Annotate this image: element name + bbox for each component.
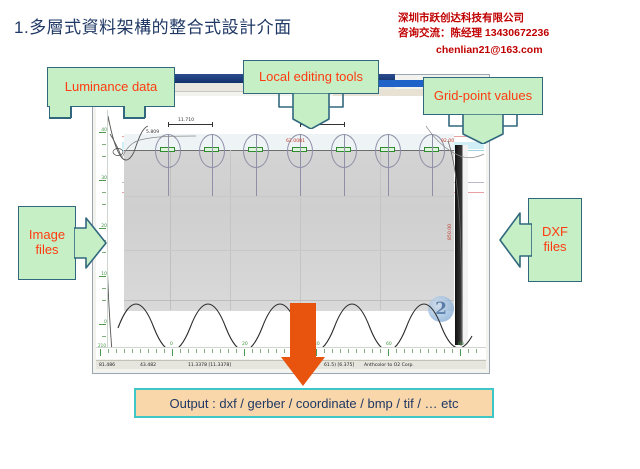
grid-point-axis <box>388 134 389 196</box>
dimension-label-side: 850.00 <box>448 224 453 240</box>
plate-grid-line <box>124 300 454 301</box>
ruler-h-label: 80 <box>458 342 464 347</box>
output-formats-box: Output : dxf / gerber / coordinate / bmp… <box>134 388 494 418</box>
callout-grid-point-values[interactable]: Grid-point values <box>423 77 543 115</box>
page-title: 1.多層式資料架構的整合式設計介面 <box>14 13 292 38</box>
status-coord-value: 11.3378 [11.3378] <box>188 361 231 370</box>
ruler-h-label: 20 <box>242 342 248 347</box>
ruler-v-label: 40 <box>101 128 107 133</box>
callout-image-files-arrow <box>74 214 108 272</box>
callout-image-files[interactable]: Image files <box>18 206 76 280</box>
plate-grid-line <box>124 250 454 251</box>
callout-image-files-line2: files <box>35 243 58 258</box>
callout-local-editing-arrow <box>243 93 379 129</box>
plate-grid-line <box>380 150 381 310</box>
ruler-v-label: 10 <box>101 272 107 277</box>
callout-dxf-files[interactable]: DXF files <box>528 198 582 282</box>
dimension-label-d4: 62.0081 <box>286 139 305 144</box>
status-x-value: 81.486 <box>99 361 115 370</box>
dimension-label-d2: 11.710 <box>178 118 194 123</box>
company-email: chenlian21@163.com <box>436 44 549 57</box>
callout-dxf-files-arrow <box>498 208 532 272</box>
dimension-tick <box>212 122 213 127</box>
ruler-h-label: 0 <box>170 342 173 347</box>
plate-right-strip <box>462 145 468 345</box>
ruler-v-label: 0 <box>104 320 107 325</box>
callout-image-files-line1: Image <box>29 228 65 243</box>
callout-luminance-tail <box>47 106 175 120</box>
plate-right-dark-edge <box>455 145 462 345</box>
watermark-logo: 2 <box>428 296 454 322</box>
ruler-v-label: 30 <box>101 176 107 181</box>
company-contact-block: 深圳市跃创达科技有限公司 咨询交流：陈经理 13430672236 chenli… <box>398 12 549 57</box>
callout-dxf-files-line2: files <box>543 240 566 255</box>
grid-point-axis <box>168 134 169 196</box>
callout-grid-point-label: Grid-point values <box>434 89 532 104</box>
output-formats-label: Output : dxf / gerber / coordinate / bmp… <box>169 396 458 411</box>
arrow-head-icon <box>281 357 325 386</box>
dimension-tick <box>168 122 169 127</box>
plate-grid-line <box>124 196 454 197</box>
callout-grid-point-arrow <box>423 114 543 144</box>
arrow-shaft <box>290 303 316 358</box>
callout-dxf-files-line1: DXF <box>542 225 568 240</box>
dimension-bar <box>168 124 212 125</box>
plate-body <box>124 150 454 311</box>
ruler-h-label: 60 <box>386 342 392 347</box>
dimension-label-d1: 5.809 <box>146 130 159 135</box>
company-contact: 咨询交流：陈经理 13430672236 <box>398 27 549 40</box>
status-copyright: Anthcolor to O2 Corp. <box>364 361 414 370</box>
plate-grid-line <box>230 150 231 310</box>
status-right-value: 61.5) [6.375] <box>324 361 354 370</box>
callout-luminance-label: Luminance data <box>65 80 158 95</box>
callout-local-editing-label: Local editing tools <box>259 70 363 85</box>
callout-luminance-data[interactable]: Luminance data <box>47 67 175 107</box>
company-name: 深圳市跃创达科技有限公司 <box>398 12 549 25</box>
status-y-value: 43.482 <box>140 361 156 370</box>
ruler-h-label: 210 <box>98 343 106 348</box>
grid-point-axis <box>344 134 345 196</box>
grid-point-axis <box>256 134 257 196</box>
grid-point-axis <box>212 134 213 196</box>
slide-root: 1.多層式資料架構的整合式設計介面 深圳市跃创达科技有限公司 咨询交流：陈经理 … <box>0 0 640 469</box>
output-flow-arrow <box>281 303 325 386</box>
plate-grid-line <box>170 150 171 310</box>
callout-local-editing-tools[interactable]: Local editing tools <box>243 60 379 94</box>
